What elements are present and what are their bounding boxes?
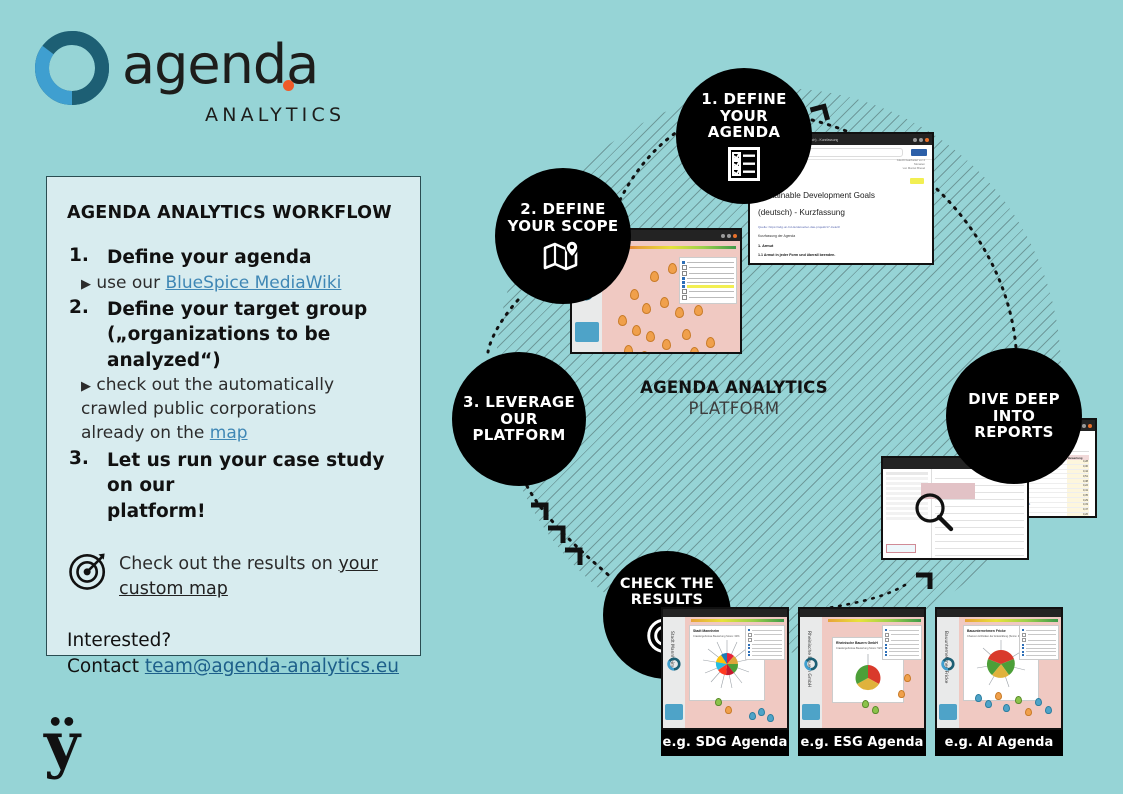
contact-block: Interested? Contact team@agenda-analytic…: [67, 628, 400, 681]
report-action-button[interactable]: [886, 544, 916, 553]
map-pin[interactable]: [690, 347, 699, 354]
workflow-panel: AGENDA ANALYTICS WORKFLOW 1. Define your…: [46, 176, 421, 656]
map-pin[interactable]: [725, 706, 732, 715]
result-info-box: [939, 704, 957, 720]
triangle-bullet-icon: ▶: [81, 277, 91, 292]
result-screenshot[interactable]: Stadt Mannheim Stadt Mannheim Crawlergeb…: [661, 607, 789, 730]
legend-row: [682, 277, 734, 280]
legend-row: [682, 261, 734, 264]
map-info-box: [575, 322, 599, 342]
map-pin[interactable]: [904, 674, 911, 683]
checklist-icon: [728, 147, 760, 181]
results-text-prefix: Check out the results on: [119, 554, 338, 574]
score-gradient-legend: [965, 619, 1058, 622]
map-pin[interactable]: [675, 307, 684, 318]
logo-dot: [283, 80, 294, 91]
custom-map-link-line2[interactable]: custom map: [119, 579, 228, 599]
map-pin[interactable]: [632, 325, 641, 336]
map-pin[interactable]: [995, 692, 1002, 701]
result-caption: e.g. AI Agenda: [935, 730, 1063, 756]
result-legend[interactable]: [1019, 625, 1059, 660]
workflow-step-2: 2. Define your target group („organizati…: [67, 297, 400, 446]
center-caption-line2: PLATFORM: [612, 399, 856, 418]
map-pin[interactable]: [985, 700, 992, 709]
legend-row: [682, 281, 734, 284]
step-text: Define your agenda: [107, 245, 400, 271]
wiki-meta-line3: von Marcel Bresel: [897, 166, 925, 170]
step-2-sub-line1: check out the automatically: [96, 375, 334, 395]
window-controls: [913, 138, 929, 142]
node-label-line1: DIVE DEEP: [962, 391, 1066, 408]
node-label-line3: PLATFORM: [466, 427, 571, 444]
workflow-step-list: 1. Define your agenda ▶ use our BlueSpic…: [67, 245, 400, 524]
highlight-marker-icon: [910, 178, 924, 184]
map-pin[interactable]: [1035, 698, 1042, 707]
result-card-esg[interactable]: Rheinische Bauern GmbH Rheinische Bauern…: [798, 607, 926, 756]
map-pin[interactable]: [662, 339, 671, 350]
map-pin[interactable]: [1045, 706, 1052, 715]
wiki-item-1: 1. Armut: [758, 244, 924, 248]
node-label-line1: CHECK THE: [614, 576, 720, 592]
bluespice-mediawiki-link[interactable]: BlueSpice MediaWiki: [165, 273, 341, 293]
wiki-item-1-1: 1.1 Armut in jeder Form und überall been…: [758, 253, 924, 257]
node-label-line2: YOUR AGENDA: [676, 108, 812, 142]
map-pin[interactable]: [682, 329, 691, 340]
browser-titlebar: [937, 609, 1061, 617]
result-legend[interactable]: [882, 625, 922, 660]
workflow-step-3: 3. Let us run your case study on our pla…: [67, 448, 400, 525]
score-gradient-legend: [828, 619, 921, 622]
node-label-line2: YOUR SCOPE: [502, 218, 625, 235]
map-pin[interactable]: [715, 698, 722, 707]
browser-titlebar: [800, 609, 924, 617]
map-pin[interactable]: [872, 706, 879, 715]
map-pin[interactable]: [660, 297, 669, 308]
legend-row: [682, 289, 734, 294]
result-info-box: [802, 704, 820, 720]
agenda-ring-mark: [804, 657, 818, 671]
diagram-node-dive-deep-reports[interactable]: DIVE DEEP INTO REPORTS: [946, 348, 1082, 484]
brand-logo: agenda ANALYTICS: [30, 24, 330, 110]
step-1-subline: ▶ use our BlueSpice MediaWiki: [81, 272, 400, 295]
map-pin[interactable]: [650, 271, 659, 282]
result-info-box: [665, 704, 683, 720]
map-pin[interactable]: [706, 337, 715, 348]
map-pin[interactable]: [758, 708, 765, 717]
wiki-meta: zuletzt bearbeitet vor 2 Monaten von Mar…: [897, 158, 925, 171]
contact-email-link[interactable]: team@agenda-analytics.eu: [145, 656, 399, 677]
map-legend-panel[interactable]: [679, 257, 737, 304]
contact-prefix: Contact: [67, 656, 145, 677]
node-label-line1: 1. DEFINE: [695, 91, 792, 108]
result-screenshot[interactable]: Bauunternehmen Fricke Bauunternehmen Fri…: [935, 607, 1063, 730]
center-caption: AGENDA ANALYTICS PLATFORM: [612, 378, 856, 418]
y-umlaut-glyph: ÿ: [44, 714, 80, 776]
node-label-line2: RESULTS: [625, 592, 710, 608]
magnifying-glass-icon: [913, 491, 955, 533]
workflow-step-1: 1. Define your agenda ▶ use our BlueSpic…: [67, 245, 400, 295]
result-caption: e.g. ESG Agenda: [798, 730, 926, 756]
agenda-ring-mark: [941, 657, 955, 671]
step-text-line2: platform!: [107, 499, 400, 525]
map-pin[interactable]: [694, 305, 703, 316]
diagram-node-define-agenda[interactable]: 1. DEFINE YOUR AGENDA: [676, 68, 812, 204]
step-number: 3.: [69, 448, 89, 469]
step-1-sub-prefix: use our: [96, 273, 165, 293]
agenda-ring-mark: [34, 30, 110, 106]
map-pin[interactable]: [640, 351, 649, 354]
step-2-sub-line2: crawled public corporations: [81, 398, 400, 421]
wiki-source-note: Quelle: https://sdg.un-hd.de/de/ueber-da…: [758, 225, 924, 229]
legend-row-highlighted: [682, 285, 734, 288]
node-label-line2: INTO REPORTS: [946, 408, 1082, 442]
map-pin[interactable]: [1025, 708, 1032, 717]
map-pin[interactable]: [646, 331, 655, 342]
results-text: Check out the results on your custom map: [119, 552, 378, 602]
cell-score: 0,52: [1067, 517, 1089, 518]
map-pin[interactable]: [618, 315, 627, 326]
step-number: 2.: [69, 297, 89, 318]
legend-row: [682, 295, 734, 300]
step-text-line2: („organizations to be analyzed“): [107, 322, 400, 373]
map-pin[interactable]: [975, 694, 982, 703]
logo-subtitle: ANALYTICS: [205, 104, 345, 126]
contact-question: Interested?: [67, 628, 400, 654]
panel-footnote: [693, 697, 764, 699]
wiki-section-note: Kurzfassung der Agenda: [758, 234, 924, 238]
results-callout: Check out the results on your custom map: [67, 552, 400, 602]
diagram-node-define-scope[interactable]: 2. DEFINE YOUR SCOPE: [495, 168, 631, 304]
agenda-ring-mark: [667, 657, 681, 671]
node-label-line1: 3. LEVERAGE: [457, 394, 581, 411]
map-link[interactable]: map: [210, 423, 248, 443]
map-pin[interactable]: [630, 289, 639, 300]
legend-row: [682, 271, 734, 276]
result-card-ai[interactable]: Bauunternehmen Fricke Bauunternehmen Fri…: [935, 607, 1063, 756]
step-2-subline-3: already on the map: [81, 422, 400, 445]
map-pin[interactable]: [1003, 704, 1010, 713]
node-label-line2: OUR: [494, 411, 543, 428]
step-text-line1: Let us run your case study on our: [107, 448, 400, 499]
map-pin-icon: [543, 241, 583, 271]
map-pin[interactable]: [767, 714, 774, 723]
browser-titlebar: [663, 609, 787, 617]
map-pin[interactable]: [1015, 696, 1022, 705]
map-pin[interactable]: [749, 712, 756, 721]
center-caption-line1: AGENDA ANALYTICS: [612, 378, 856, 397]
map-pin[interactable]: [668, 263, 677, 274]
wiki-new-button[interactable]: [911, 149, 927, 156]
result-legend[interactable]: [745, 625, 785, 660]
step-text-line1: Define your target group: [107, 297, 400, 323]
step-number: 1.: [69, 245, 89, 266]
diagram-node-leverage-platform[interactable]: 3. LEVERAGE OUR PLATFORM: [452, 352, 586, 486]
legend-row: [682, 265, 734, 270]
score-gradient-legend: [691, 619, 784, 622]
node-label-line1: 2. DEFINE: [514, 201, 611, 218]
map-pin[interactable]: [642, 303, 651, 314]
step-2-sub-line3-prefix: already on the: [81, 423, 210, 443]
result-screenshot[interactable]: Rheinische Bauern GmbH Rheinische Bauern…: [798, 607, 926, 730]
step-2-subline-1: ▶ check out the automatically: [81, 374, 400, 397]
map-pin[interactable]: [624, 345, 633, 354]
result-caption: e.g. SDG Agenda: [661, 730, 789, 756]
target-arrow-icon: [67, 550, 109, 592]
window-controls: [721, 234, 737, 238]
triangle-bullet-icon: ▶: [81, 379, 91, 394]
result-card-sdg[interactable]: Stadt Mannheim Stadt Mannheim Crawlergeb…: [661, 607, 789, 756]
page-title: AGENDA ANALYTICS WORKFLOW: [67, 203, 400, 223]
wiki-heading-line2: (deutsch) - Kurzfassung: [758, 207, 924, 218]
map-pin[interactable]: [862, 700, 869, 709]
contact-line: Contact team@agenda-analytics.eu: [67, 654, 400, 680]
map-pin[interactable]: [898, 690, 905, 699]
custom-map-link-line1[interactable]: your: [338, 554, 377, 574]
